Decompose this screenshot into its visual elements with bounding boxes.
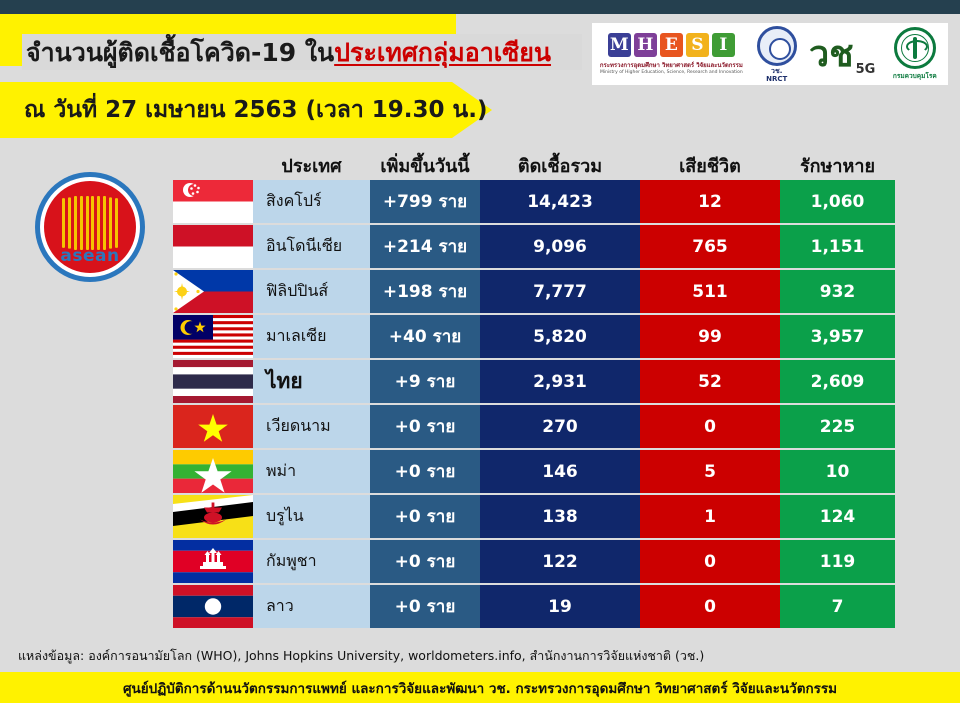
source-note: แหล่งข้อมูล: องค์การอนามัยโลก (WHO), Joh… bbox=[18, 646, 704, 666]
cell-total: 9,096 bbox=[480, 225, 640, 268]
flag-icon-myanmar bbox=[173, 450, 253, 493]
header-new-cases: เพิ่มขึ้นวันนี้ bbox=[370, 151, 480, 180]
recovered-value: 932 bbox=[820, 282, 856, 302]
cell-deaths: 1 bbox=[640, 495, 780, 538]
new-cases-value: +0 ราย bbox=[395, 593, 456, 620]
deaths-value: 0 bbox=[704, 417, 716, 437]
ddc-label: กรมควบคุมโรค bbox=[893, 71, 937, 81]
cell-total: 5,820 bbox=[480, 315, 640, 358]
deaths-value: 1 bbox=[704, 507, 716, 527]
table-row: พม่า+0 ราย146510 bbox=[173, 450, 895, 493]
cell-total: 270 bbox=[480, 405, 640, 448]
total-value: 138 bbox=[542, 507, 578, 527]
ddc-logo: กรมควบคุมโรค bbox=[882, 23, 948, 85]
cell-total: 146 bbox=[480, 450, 640, 493]
vc-thai-glyph-icon: วช bbox=[809, 36, 854, 72]
cell-recovered: 119 bbox=[780, 540, 895, 583]
new-cases-value: +0 ราย bbox=[395, 548, 456, 575]
page-title: จำนวนผู้ติดเชื้อโควิด-19 ในประเทศกลุ่มอา… bbox=[26, 32, 646, 74]
flag-icon-malaysia bbox=[173, 315, 253, 358]
recovered-value: 1,060 bbox=[811, 192, 865, 212]
cell-country: เวียดนาม bbox=[253, 405, 370, 448]
country-label: พม่า bbox=[266, 459, 296, 484]
top-bar bbox=[0, 0, 960, 14]
country-label: บรูไน bbox=[266, 504, 304, 529]
country-label: สิงคโปร์ bbox=[266, 189, 322, 214]
nrct-label: วช. NRCT bbox=[766, 67, 787, 83]
cell-total: 7,777 bbox=[480, 270, 640, 313]
cell-country: บรูไน bbox=[253, 495, 370, 538]
asean-logo-icon: asean bbox=[30, 168, 150, 286]
table-row: กัมพูชา+0 ราย1220119 bbox=[173, 540, 895, 583]
deaths-value: 5 bbox=[704, 462, 716, 482]
table-row: เวียดนาม+0 ราย2700225 bbox=[173, 405, 895, 448]
country-label: ไทย bbox=[266, 365, 303, 398]
cell-country: กัมพูชา bbox=[253, 540, 370, 583]
table-row: มาเลเซีย+40 ราย5,820993,957 bbox=[173, 315, 895, 358]
flag-icon-thailand bbox=[173, 360, 253, 403]
flag-icon-indonesia bbox=[173, 225, 253, 268]
title-prefix: จำนวนผู้ติดเชื้อโควิด-19 ใน bbox=[26, 38, 334, 67]
country-label: กัมพูชา bbox=[266, 549, 317, 574]
country-label: ฟิลิปปินส์ bbox=[266, 279, 328, 304]
cell-country: อินโดนีเซีย bbox=[253, 225, 370, 268]
page-subtitle: ณ วันที่ 27 เมษายน 2563 (เวลา 19.30 น.) bbox=[24, 88, 494, 132]
total-value: 146 bbox=[542, 462, 578, 482]
cell-recovered: 7 bbox=[780, 585, 895, 628]
mhesi-letter-e: E bbox=[660, 33, 683, 57]
cell-deaths: 0 bbox=[640, 405, 780, 448]
recovered-value: 124 bbox=[820, 507, 856, 527]
cell-deaths: 765 bbox=[640, 225, 780, 268]
table-row: ไทย+9 ราย2,931522,609 bbox=[173, 360, 895, 403]
cell-deaths: 52 bbox=[640, 360, 780, 403]
recovered-value: 225 bbox=[820, 417, 856, 437]
flag-icon-laos bbox=[173, 585, 253, 628]
cell-deaths: 0 bbox=[640, 585, 780, 628]
cell-deaths: 12 bbox=[640, 180, 780, 223]
fiveg-label: 5G bbox=[856, 62, 876, 77]
mhesi-letter-s: S bbox=[686, 33, 709, 57]
new-cases-value: +198 ราย bbox=[383, 278, 467, 305]
flag-icon-vietnam bbox=[173, 405, 253, 448]
cell-recovered: 10 bbox=[780, 450, 895, 493]
deaths-value: 0 bbox=[704, 597, 716, 617]
ddc-seal-icon bbox=[894, 27, 936, 69]
cell-country: ไทย bbox=[253, 360, 370, 403]
nrct-logo: วช. NRCT bbox=[751, 23, 803, 85]
total-value: 14,423 bbox=[527, 192, 593, 212]
cell-new-cases: +799 ราย bbox=[370, 180, 480, 223]
header-recovered: รักษาหาย bbox=[780, 151, 895, 180]
cell-deaths: 511 bbox=[640, 270, 780, 313]
header-country: ประเทศ bbox=[253, 151, 370, 180]
cell-country: มาเลเซีย bbox=[253, 315, 370, 358]
asean-wordmark: asean bbox=[30, 246, 150, 266]
deaths-value: 12 bbox=[698, 192, 722, 212]
country-label: ลาว bbox=[266, 594, 294, 619]
cell-country: ลาว bbox=[253, 585, 370, 628]
header-deaths: เสียชีวิต bbox=[640, 151, 780, 180]
cell-country: พม่า bbox=[253, 450, 370, 493]
table-row: ฟิลิปปินส์+198 ราย7,777511932 bbox=[173, 270, 895, 313]
country-label: อินโดนีเซีย bbox=[266, 234, 342, 259]
recovered-value: 7 bbox=[832, 597, 844, 617]
new-cases-value: +40 ราย bbox=[389, 323, 461, 350]
total-value: 9,096 bbox=[533, 237, 587, 257]
recovered-value: 1,151 bbox=[811, 237, 865, 257]
cell-total: 2,931 bbox=[480, 360, 640, 403]
new-cases-value: +0 ราย bbox=[395, 503, 456, 530]
logo-strip: M H E S I กระทรวงการอุดมศึกษา วิทยาศาสตร… bbox=[592, 16, 948, 92]
cell-new-cases: +198 ราย bbox=[370, 270, 480, 313]
footer-bar: ศูนย์ปฏิบัติการด้านนวัตกรรมการแพทย์ และก… bbox=[0, 672, 960, 703]
cell-recovered: 2,609 bbox=[780, 360, 895, 403]
country-label: เวียดนาม bbox=[266, 414, 331, 439]
recovered-value: 119 bbox=[820, 552, 856, 572]
mhesi-letter-m: M bbox=[608, 33, 631, 57]
cell-new-cases: +40 ราย bbox=[370, 315, 480, 358]
cell-deaths: 0 bbox=[640, 540, 780, 583]
footer-text: ศูนย์ปฏิบัติการด้านนวัตกรรมการแพทย์ และก… bbox=[123, 677, 837, 699]
deaths-value: 765 bbox=[692, 237, 728, 257]
flag-icon-brunei bbox=[173, 495, 253, 538]
nrct-abbr: NRCT bbox=[766, 75, 787, 83]
deaths-value: 511 bbox=[692, 282, 728, 302]
country-label: มาเลเซีย bbox=[266, 324, 327, 349]
cell-recovered: 3,957 bbox=[780, 315, 895, 358]
nrct-emblem-icon bbox=[757, 26, 797, 66]
cell-new-cases: +0 ราย bbox=[370, 585, 480, 628]
covid-table: ประเทศ เพิ่มขึ้นวันนี้ ติดเชื้อรวม เสียช… bbox=[173, 150, 895, 630]
flag-icon-singapore bbox=[173, 180, 253, 223]
new-cases-value: +214 ราย bbox=[383, 233, 467, 260]
cell-new-cases: +0 ราย bbox=[370, 540, 480, 583]
deaths-value: 0 bbox=[704, 552, 716, 572]
nrct-thai: วช. bbox=[771, 67, 782, 75]
mhesi-letter-h: H bbox=[634, 33, 657, 57]
cell-recovered: 1,060 bbox=[780, 180, 895, 223]
cell-total: 14,423 bbox=[480, 180, 640, 223]
cell-total: 19 bbox=[480, 585, 640, 628]
cell-country: สิงคโปร์ bbox=[253, 180, 370, 223]
mhesi-english-label: Ministry of Higher Education, Science, R… bbox=[600, 70, 743, 75]
total-value: 2,931 bbox=[533, 372, 587, 392]
cell-new-cases: +0 ราย bbox=[370, 495, 480, 538]
table-row: บรูไน+0 ราย1381124 bbox=[173, 495, 895, 538]
new-cases-value: +799 ราย bbox=[383, 188, 467, 215]
cell-deaths: 99 bbox=[640, 315, 780, 358]
cell-new-cases: +9 ราย bbox=[370, 360, 480, 403]
flag-icon-philippines bbox=[173, 270, 253, 313]
deaths-value: 99 bbox=[698, 327, 722, 347]
cell-new-cases: +214 ราย bbox=[370, 225, 480, 268]
flag-icon-cambodia bbox=[173, 540, 253, 583]
new-cases-value: +0 ราย bbox=[395, 413, 456, 440]
deaths-value: 52 bbox=[698, 372, 722, 392]
table-row: ลาว+0 ราย1907 bbox=[173, 585, 895, 628]
mhesi-letter-i: I bbox=[712, 33, 735, 57]
cell-deaths: 5 bbox=[640, 450, 780, 493]
new-cases-value: +9 ราย bbox=[395, 368, 456, 395]
table-row: อินโดนีเซีย+214 ราย9,0967651,151 bbox=[173, 225, 895, 268]
recovered-value: 3,957 bbox=[811, 327, 865, 347]
table-body: สิงคโปร์+799 ราย14,423121,060อินโดนีเซีย… bbox=[173, 180, 895, 628]
header-total: ติดเชื้อรวม bbox=[480, 151, 640, 180]
nrct-5g-logo: วช 5G bbox=[803, 23, 882, 85]
total-value: 19 bbox=[548, 597, 572, 617]
total-value: 7,777 bbox=[533, 282, 587, 302]
cell-recovered: 225 bbox=[780, 405, 895, 448]
title-highlight: ประเทศกลุ่มอาเซียน bbox=[334, 38, 551, 67]
cell-total: 122 bbox=[480, 540, 640, 583]
new-cases-value: +0 ราย bbox=[395, 458, 456, 485]
mhesi-logo: M H E S I กระทรวงการอุดมศึกษา วิทยาศาสตร… bbox=[592, 23, 751, 85]
cell-country: ฟิลิปปินส์ bbox=[253, 270, 370, 313]
mhesi-thai-label: กระทรวงการอุดมศึกษา วิทยาศาสตร์ วิจัยและ… bbox=[600, 60, 743, 70]
total-value: 122 bbox=[542, 552, 578, 572]
table-header-row: ประเทศ เพิ่มขึ้นวันนี้ ติดเชื้อรวม เสียช… bbox=[173, 150, 895, 180]
cell-recovered: 1,151 bbox=[780, 225, 895, 268]
mhesi-letter-blocks: M H E S I bbox=[608, 33, 735, 57]
table-row: สิงคโปร์+799 ราย14,423121,060 bbox=[173, 180, 895, 223]
recovered-value: 2,609 bbox=[811, 372, 865, 392]
cell-total: 138 bbox=[480, 495, 640, 538]
infographic-root: จำนวนผู้ติดเชื้อโควิด-19 ในประเทศกลุ่มอา… bbox=[0, 0, 960, 703]
cell-new-cases: +0 ราย bbox=[370, 450, 480, 493]
total-value: 5,820 bbox=[533, 327, 587, 347]
recovered-value: 10 bbox=[826, 462, 850, 482]
total-value: 270 bbox=[542, 417, 578, 437]
cell-recovered: 124 bbox=[780, 495, 895, 538]
cell-new-cases: +0 ราย bbox=[370, 405, 480, 448]
cell-recovered: 932 bbox=[780, 270, 895, 313]
